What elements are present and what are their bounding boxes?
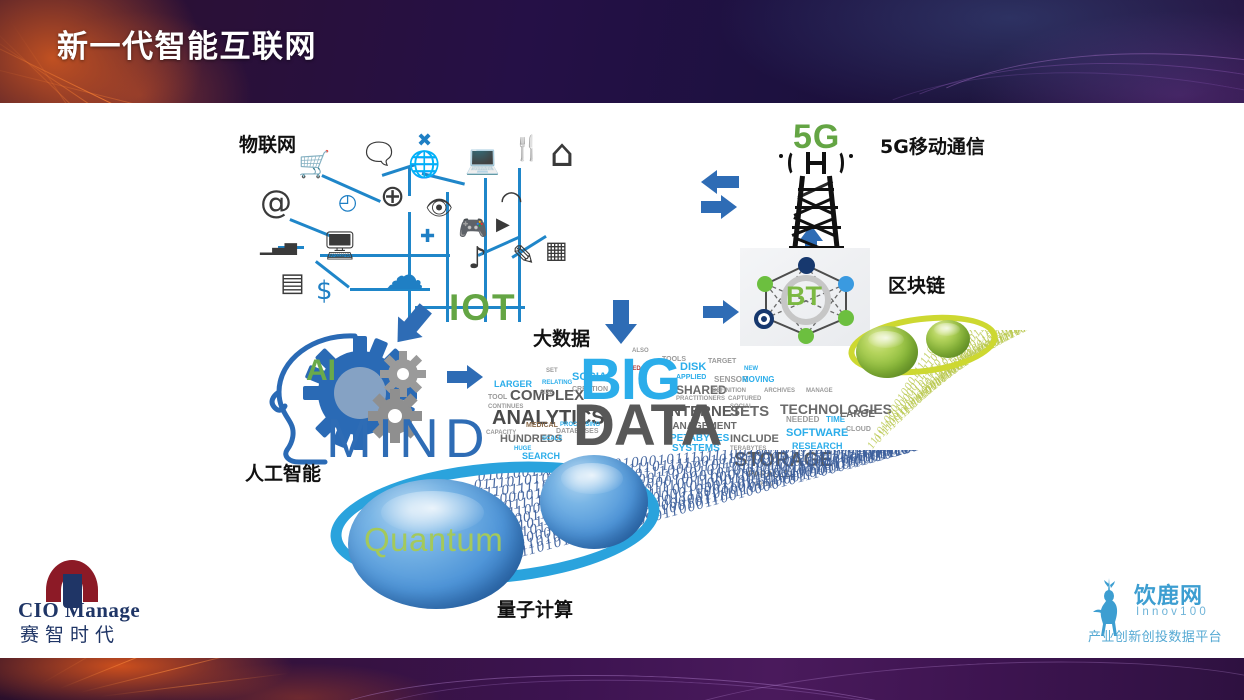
wordcloud-term: APPLIED [676, 374, 706, 381]
wordcloud-term: NEEDED [786, 416, 819, 424]
bar-chart-icon: ▁▃▅ [260, 238, 297, 254]
wordcloud-term: STORAGE [734, 450, 833, 470]
gamepad-icon: 🎮 [458, 216, 488, 240]
green-sphere-graphic [848, 312, 1008, 402]
sphere-green-large [856, 326, 918, 378]
chat-bubbles-icon: 🗨 [360, 140, 398, 170]
laptop-icon: 💻 [465, 146, 500, 174]
arrow-iot-to-bigdata [605, 300, 637, 348]
header-wave-decoration [809, 13, 1244, 103]
logo-innov100: 饮鹿网 Innov100 产业创新创投数据平台 [1082, 574, 1230, 654]
logo-left-cn-text: 赛智时代 [20, 620, 220, 647]
header-wave-decoration [633, 0, 1244, 103]
footer-ray-decoration [60, 658, 264, 689]
camera-dome-icon: ◠ [500, 188, 523, 214]
wordcloud-term: TECHNOLOGIES [780, 402, 892, 416]
wordcloud-term: HUGE [514, 446, 531, 452]
world-globe-icon: ⊕ [380, 182, 405, 212]
footer-ray-decoration [100, 673, 289, 697]
wordcloud-term: MEDICAL [526, 422, 558, 429]
blockchain-node [754, 309, 774, 329]
dollar-coin-icon: $ [316, 278, 333, 304]
logo-right-tagline: 产业创新创投数据平台 [1088, 626, 1222, 645]
wordcloud-term: PARALLEL [748, 470, 795, 479]
logo-cio-manage: CIO Manage 赛智时代 [18, 560, 218, 645]
wordcloud-term: SOFTWARE [786, 428, 848, 439]
wordcloud-term: MANAGE [806, 388, 833, 394]
slide-footer [0, 658, 1244, 700]
arrow-right-to-5g [701, 195, 741, 219]
film-icon: ▦ [545, 238, 568, 262]
sphere-blue-small [540, 455, 648, 549]
document-icon: ▤ [280, 270, 305, 296]
wordcloud-term: INCLUDE [730, 434, 779, 445]
wordcloud-term: GROW [754, 482, 773, 488]
label-ai: 人工智能 [245, 459, 321, 486]
pencil-icon: ✎ [512, 242, 535, 270]
arrow-left-to-iot [701, 170, 741, 194]
plus-badge-icon: ✚ [420, 228, 435, 246]
shopping-cart-person-icon: 🛒 [298, 152, 330, 178]
label-blockchain: 区块链 [888, 271, 945, 298]
eye-icon: 👁 [425, 198, 453, 220]
label-quantum-computing: 量子计算 [497, 595, 573, 622]
cutlery-icon: 🍴 [512, 136, 542, 160]
music-note-icon: ♪ [468, 244, 487, 274]
wordcloud-term: DISK [680, 362, 706, 373]
header-wave-decoration [841, 9, 1244, 103]
wordcloud-term: SIZE [540, 390, 553, 396]
wordcloud-term: SETS [730, 404, 769, 419]
globe-pin-icon: 🌐 [408, 152, 440, 178]
blockchain-node [757, 276, 773, 292]
arrow-to-blockchain [703, 300, 743, 324]
x-badge-icon: ✖ [417, 132, 432, 150]
blockchain-node [838, 276, 854, 292]
wordcloud-term: ARCHIVES [764, 388, 795, 394]
header-wave-decoration [777, 17, 1244, 103]
slide-canvas: 新一代智能互联网 物联网 🛒🗨🌐💻🍴⌂@◴⊕👁◠🎮▁▃▅🖥▤$☁♪✎▦▶✚✖ I… [0, 0, 1244, 700]
blockchain-node [798, 257, 815, 274]
wordcloud-term: LARGE [840, 410, 875, 420]
slide-header: 新一代智能互联网 [0, 0, 1244, 103]
page-title: 新一代智能互联网 [57, 21, 317, 66]
wordcloud-term: RELATING [542, 380, 572, 386]
wordcloud-term: MOVING [742, 376, 774, 384]
big-data-wordcloud: LARGERTOOLCONTINUESCOMPLEXANALYTICSCAPAC… [480, 342, 820, 462]
footer-ray-decoration [80, 658, 274, 693]
data-wordmark: DATA [573, 392, 721, 459]
wordcloud-term: CLOUD [846, 426, 871, 433]
wordcloud-term: NEW [744, 366, 758, 372]
play-button-icon: ▶ [496, 216, 510, 234]
magnet-mark-icon [46, 560, 98, 602]
wordcloud-term: CAPTURED [728, 396, 761, 402]
header-wave-decoration [591, 0, 1244, 103]
sphere-gloss [934, 323, 960, 336]
iot-wordmark: IOT [449, 287, 517, 329]
wordcloud-term: TARGET [708, 358, 736, 365]
label-5g-mobile: 5G移动通信 [880, 132, 985, 159]
wordcloud-term: RESEARCH [792, 442, 843, 451]
wordcloud-term: TOOL [488, 394, 507, 401]
quantum-wordmark: Quantum [364, 521, 503, 559]
sphere-green-small [926, 320, 970, 358]
ai-wordmark: AI [306, 354, 336, 388]
cloud-icon: ☁ [384, 256, 424, 296]
house-icon: ⌂ [550, 134, 574, 172]
desk-worker-icon: 🖥 [322, 232, 358, 260]
blockchain-wordmark: BT [786, 281, 822, 312]
clock-icon: ◴ [338, 192, 357, 214]
header-wave-decoration [675, 0, 1244, 103]
sphere-gloss [561, 463, 624, 494]
sphere-gloss [868, 331, 904, 348]
quantum-graphic: Quantum [330, 455, 680, 615]
header-wave-decoration [548, 0, 1244, 103]
at-sign-icon: @ [260, 186, 292, 218]
wordcloud-term: SET [546, 368, 558, 374]
wordcloud-term: SCALE [542, 436, 562, 442]
logo-right-en-text: Innov100 [1136, 606, 1209, 618]
